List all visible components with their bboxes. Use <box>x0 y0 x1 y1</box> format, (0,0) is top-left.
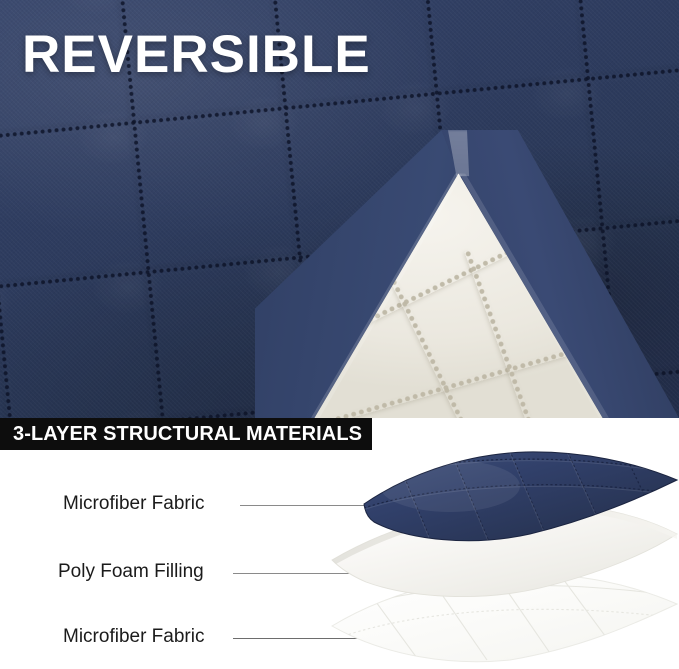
layer-label-top: Microfiber Fabric <box>63 494 204 513</box>
section-banner-title: 3-LAYER STRUCTURAL MATERIALS <box>0 423 362 446</box>
headline-reversible: REVERSIBLE <box>22 28 371 81</box>
section-banner: 3-LAYER STRUCTURAL MATERIALS <box>0 418 372 450</box>
product-infographic: REVERSIBLE 3-LAYER STRUCTURAL MATERIALS … <box>0 0 679 669</box>
layer-diagram: Microfiber Fabric Poly Foam Filling Micr… <box>0 450 679 669</box>
navy-sheet-highlight <box>380 460 520 512</box>
sheet-top-microfiber <box>330 448 679 553</box>
layer-label-middle: Poly Foam Filling <box>58 562 204 581</box>
layer-label-bottom: Microfiber Fabric <box>63 627 204 646</box>
folded-corner <box>255 130 679 418</box>
reversible-fabric-photo: REVERSIBLE <box>0 0 679 418</box>
stacked-layer-sheets <box>330 450 679 669</box>
